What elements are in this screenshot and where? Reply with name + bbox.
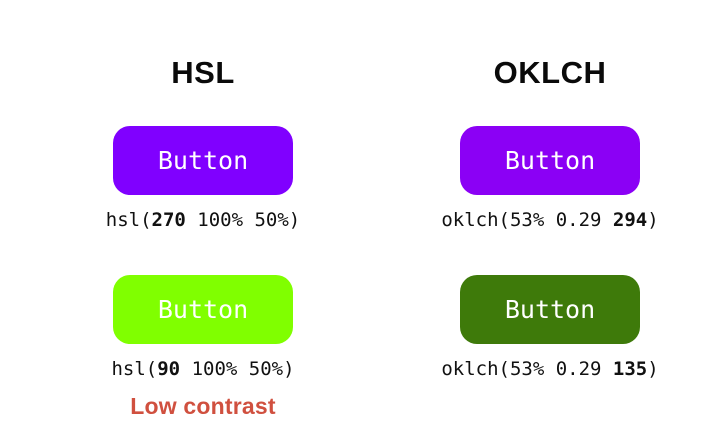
oklch-column: OKLCH Button oklch(53% 0.29 294) Button …	[370, 0, 720, 433]
oklch-column-heading: OKLCH	[370, 56, 720, 90]
oklch-green-code-label: oklch(53% 0.29 135)	[370, 358, 720, 380]
oklch-purple-code-prefix: oklch(53% 0.29	[441, 209, 613, 231]
low-contrast-warning: Low contrast	[23, 393, 383, 419]
oklch-green-swatch-block: Button oklch(53% 0.29 135)	[370, 275, 720, 380]
hsl-purple-code-label: hsl(270 100% 50%)	[23, 209, 383, 231]
oklch-green-code-suffix: )	[647, 358, 658, 380]
hsl-purple-code-hue: 270	[152, 209, 186, 231]
oklch-green-button[interactable]: Button	[460, 275, 640, 344]
hsl-column-heading: HSL	[23, 56, 383, 90]
oklch-green-code-hue: 135	[613, 358, 647, 380]
hsl-green-code-label: hsl(90 100% 50%)	[23, 358, 383, 380]
hsl-green-code-hue: 90	[157, 358, 180, 380]
oklch-purple-code-hue: 294	[613, 209, 647, 231]
hsl-purple-button-wrap: Button	[23, 126, 383, 195]
oklch-green-button-wrap: Button	[370, 275, 720, 344]
oklch-purple-code-suffix: )	[647, 209, 658, 231]
oklch-purple-button[interactable]: Button	[460, 126, 640, 195]
comparison-figure: HSL Button hsl(270 100% 50%) Button hsl(…	[0, 0, 720, 433]
hsl-purple-code-suffix: 100% 50%)	[186, 209, 300, 231]
hsl-green-swatch-block: Button hsl(90 100% 50%) Low contrast	[23, 275, 383, 419]
hsl-column: HSL Button hsl(270 100% 50%) Button hsl(…	[23, 0, 383, 433]
oklch-green-code-prefix: oklch(53% 0.29	[441, 358, 613, 380]
oklch-purple-swatch-block: Button oklch(53% 0.29 294)	[370, 126, 720, 231]
hsl-green-code-prefix: hsl(	[111, 358, 157, 380]
hsl-purple-code-prefix: hsl(	[106, 209, 152, 231]
oklch-purple-button-wrap: Button	[370, 126, 720, 195]
hsl-purple-swatch-block: Button hsl(270 100% 50%)	[23, 126, 383, 231]
hsl-green-code-suffix: 100% 50%)	[180, 358, 294, 380]
hsl-green-button[interactable]: Button	[113, 275, 293, 344]
hsl-green-button-wrap: Button	[23, 275, 383, 344]
oklch-purple-code-label: oklch(53% 0.29 294)	[370, 209, 720, 231]
hsl-purple-button[interactable]: Button	[113, 126, 293, 195]
